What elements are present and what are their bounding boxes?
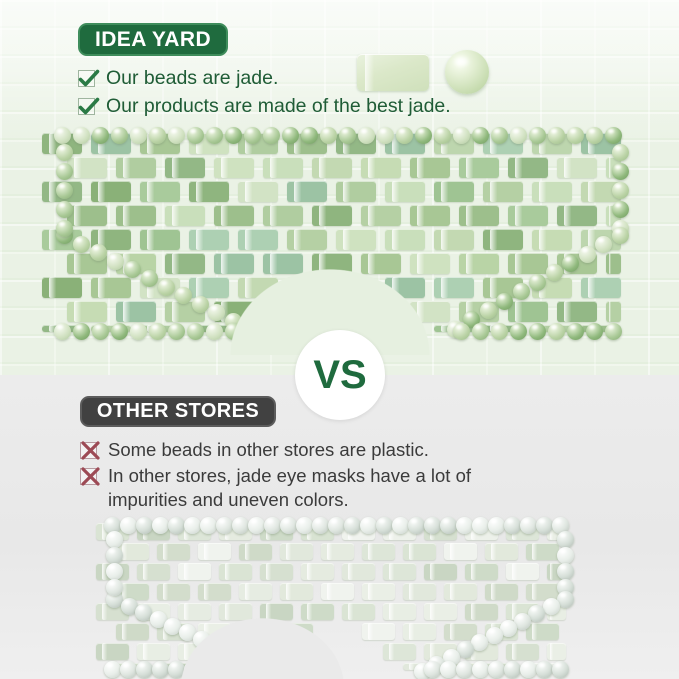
mask-bead bbox=[605, 127, 622, 144]
mask-tile bbox=[287, 181, 327, 202]
tile-highlight bbox=[609, 301, 611, 322]
tile-highlight bbox=[368, 623, 373, 640]
mask-bead bbox=[567, 323, 584, 340]
mask-tile bbox=[526, 623, 559, 640]
mask-bead bbox=[408, 517, 425, 534]
mask-tile bbox=[506, 563, 539, 580]
mask-bead bbox=[612, 201, 629, 218]
mask-bead bbox=[513, 283, 530, 300]
mask-bead bbox=[472, 661, 489, 678]
tile-highlight bbox=[466, 157, 472, 178]
mask-tile bbox=[140, 229, 180, 250]
mask-bead bbox=[377, 127, 394, 144]
tile-highlight bbox=[123, 205, 129, 226]
mask-bead bbox=[120, 517, 137, 534]
mask-bead bbox=[562, 255, 579, 272]
tile-highlight bbox=[430, 603, 435, 620]
mask-bead bbox=[612, 163, 629, 180]
mask-bead bbox=[453, 323, 470, 340]
tile-highlight bbox=[348, 563, 353, 580]
tile-highlight bbox=[74, 253, 80, 274]
tile-highlight bbox=[172, 157, 178, 178]
tile-highlight bbox=[515, 253, 521, 274]
mask-bead bbox=[264, 517, 281, 534]
mask-bead bbox=[141, 270, 158, 287]
mask-bead bbox=[557, 547, 574, 564]
mask-tile bbox=[361, 157, 401, 178]
mask-bead bbox=[158, 279, 175, 296]
mask-bead bbox=[152, 517, 169, 534]
mask-bead bbox=[358, 127, 375, 144]
tile-highlight bbox=[588, 181, 594, 202]
mask-tile bbox=[444, 543, 477, 560]
mask-bead bbox=[339, 127, 356, 144]
comparison-image: IDEA YARD OTHER STORES Our beads are jad… bbox=[0, 0, 679, 679]
mask-tile bbox=[459, 253, 499, 274]
mask-bead bbox=[104, 661, 121, 678]
mask-tile bbox=[403, 543, 436, 560]
mask-tile bbox=[361, 205, 401, 226]
tile-highlight bbox=[491, 543, 496, 560]
mask-tile bbox=[165, 157, 205, 178]
tile-highlight bbox=[74, 157, 80, 178]
mask-tile bbox=[342, 563, 375, 580]
list-item: Some beads in other stores are plastic. bbox=[80, 438, 550, 462]
mask-bead bbox=[107, 253, 124, 270]
mask-tile bbox=[165, 253, 205, 274]
mask-bead bbox=[344, 517, 361, 534]
mask-tile bbox=[42, 277, 82, 298]
tile-highlight bbox=[245, 543, 250, 560]
mask-bead bbox=[152, 661, 169, 678]
tile-highlight bbox=[466, 205, 472, 226]
mask-bead bbox=[263, 127, 280, 144]
mask-bead bbox=[536, 517, 553, 534]
mask-bead bbox=[504, 661, 521, 678]
mask-bead bbox=[200, 517, 217, 534]
tile-highlight bbox=[441, 229, 447, 250]
mask-bead bbox=[491, 323, 508, 340]
tile-highlight bbox=[564, 205, 570, 226]
tile-highlight bbox=[343, 181, 349, 202]
mask-bead bbox=[396, 127, 413, 144]
tile-highlight bbox=[515, 301, 521, 322]
mask-tile bbox=[116, 301, 156, 322]
tile-highlight bbox=[196, 277, 202, 298]
mask-bead bbox=[453, 127, 470, 144]
mask-bead bbox=[612, 182, 629, 199]
mask-bead bbox=[244, 127, 261, 144]
tile-highlight bbox=[245, 181, 251, 202]
idea-yard-badge: IDEA YARD bbox=[78, 23, 228, 56]
mask-tile bbox=[214, 205, 254, 226]
mask-bead bbox=[54, 323, 71, 340]
tile-highlight bbox=[389, 643, 394, 660]
mask-tile bbox=[424, 563, 457, 580]
mask-bead bbox=[612, 227, 629, 244]
mask-bead bbox=[206, 127, 223, 144]
mask-bead bbox=[296, 517, 313, 534]
mask-tile bbox=[383, 603, 416, 620]
mask-tile bbox=[321, 543, 354, 560]
mask-bead bbox=[579, 246, 596, 263]
idea-yard-feature-list: Our beads are jade. Our products are mad… bbox=[78, 66, 598, 122]
mask-tile bbox=[459, 205, 499, 226]
mask-tile bbox=[214, 157, 254, 178]
tile-highlight bbox=[98, 181, 104, 202]
mask-bead bbox=[187, 323, 204, 340]
tile-highlight bbox=[588, 277, 594, 298]
mask-bead bbox=[586, 323, 603, 340]
mask-bead bbox=[301, 127, 318, 144]
mask-bead bbox=[56, 163, 73, 180]
mask-tile bbox=[410, 157, 450, 178]
mask-bead bbox=[376, 517, 393, 534]
mask-tile bbox=[508, 205, 548, 226]
mask-bead bbox=[491, 127, 508, 144]
mask-tile bbox=[165, 205, 205, 226]
mask-bead bbox=[56, 220, 73, 237]
mask-bead bbox=[612, 144, 629, 161]
mask-bead bbox=[557, 563, 574, 580]
tile-highlight bbox=[270, 205, 276, 226]
tile-highlight bbox=[319, 205, 325, 226]
mask-tile bbox=[362, 583, 395, 600]
mask-tile bbox=[557, 157, 597, 178]
tile-highlight bbox=[389, 563, 394, 580]
mask-bead bbox=[552, 661, 569, 678]
tile-highlight bbox=[515, 205, 521, 226]
tile-highlight bbox=[409, 543, 414, 560]
mask-bead bbox=[529, 274, 546, 291]
tile-highlight bbox=[532, 623, 537, 640]
mask-bead bbox=[73, 236, 90, 253]
mask-bead bbox=[456, 661, 473, 678]
mask-tile bbox=[140, 181, 180, 202]
tile-highlight bbox=[221, 157, 227, 178]
vs-badge: VS bbox=[295, 330, 385, 420]
tile-highlight bbox=[512, 563, 517, 580]
check-icon bbox=[78, 70, 97, 89]
mask-bead bbox=[130, 127, 147, 144]
tile-highlight bbox=[270, 157, 276, 178]
mask-bead bbox=[605, 323, 622, 340]
mask-bead bbox=[106, 579, 123, 596]
tile-highlight bbox=[368, 583, 373, 600]
mask-bead bbox=[206, 323, 223, 340]
tile-highlight bbox=[294, 181, 300, 202]
tile-highlight bbox=[471, 603, 476, 620]
mask-bead bbox=[510, 323, 527, 340]
tile-highlight bbox=[550, 563, 553, 580]
mask-bead bbox=[106, 547, 123, 564]
tile-highlight bbox=[515, 157, 521, 178]
other-stores-badge: OTHER STORES bbox=[80, 396, 276, 427]
mask-tile bbox=[459, 157, 499, 178]
mask-tile bbox=[312, 157, 352, 178]
tile-highlight bbox=[172, 253, 178, 274]
mask-bead bbox=[168, 323, 185, 340]
mask-bead bbox=[232, 517, 249, 534]
mask-tile bbox=[238, 181, 278, 202]
cross-icon bbox=[80, 468, 99, 487]
other-stores-badge-label: OTHER STORES bbox=[97, 400, 259, 423]
mask-bead bbox=[92, 127, 109, 144]
tile-highlight bbox=[532, 583, 537, 600]
other-stores-drawback-list: Some beads in other stores are plastic. … bbox=[80, 438, 550, 514]
tile-highlight bbox=[196, 181, 202, 202]
tile-highlight bbox=[98, 277, 104, 298]
tile-highlight bbox=[74, 205, 80, 226]
vs-label: VS bbox=[313, 353, 366, 398]
mask-tile bbox=[189, 229, 229, 250]
mask-tile bbox=[219, 563, 252, 580]
tile-highlight bbox=[143, 643, 148, 660]
mask-tile bbox=[465, 563, 498, 580]
mask-tile bbox=[483, 181, 523, 202]
mask-bead bbox=[208, 304, 225, 321]
tile-highlight bbox=[163, 543, 168, 560]
tile-highlight bbox=[225, 563, 230, 580]
tile-highlight bbox=[409, 583, 414, 600]
tile-highlight bbox=[490, 181, 496, 202]
mask-bead bbox=[595, 236, 612, 253]
mask-bead bbox=[130, 323, 147, 340]
tile-highlight bbox=[409, 623, 414, 640]
idea-yard-badge-label: IDEA YARD bbox=[95, 28, 211, 52]
tile-highlight bbox=[163, 583, 168, 600]
tile-highlight bbox=[49, 181, 55, 202]
tile-highlight bbox=[441, 181, 447, 202]
mask-tile bbox=[532, 229, 572, 250]
mask-bead bbox=[120, 661, 137, 678]
tile-highlight bbox=[450, 543, 455, 560]
mask-bead bbox=[557, 531, 574, 548]
tile-highlight bbox=[490, 277, 496, 298]
tile-highlight bbox=[143, 563, 148, 580]
mask-tile bbox=[137, 563, 170, 580]
mask-bead bbox=[92, 323, 109, 340]
tile-highlight bbox=[196, 229, 202, 250]
mask-tile bbox=[485, 543, 518, 560]
mask-bead bbox=[54, 127, 71, 144]
mask-tile bbox=[532, 181, 572, 202]
tile-highlight bbox=[123, 157, 129, 178]
mask-tile bbox=[557, 205, 597, 226]
mask-bead bbox=[496, 293, 513, 310]
mask-tile bbox=[198, 543, 231, 560]
mask-bead bbox=[567, 127, 584, 144]
mask-bead bbox=[488, 661, 505, 678]
mask-tile bbox=[434, 229, 474, 250]
mask-tile bbox=[362, 543, 395, 560]
tile-highlight bbox=[417, 205, 423, 226]
mask-bead bbox=[168, 517, 185, 534]
mask-tile bbox=[116, 623, 149, 640]
tile-highlight bbox=[184, 563, 189, 580]
nose-notch-bottom bbox=[180, 598, 345, 679]
mask-tile bbox=[385, 181, 425, 202]
tile-highlight bbox=[102, 643, 107, 660]
tile-highlight bbox=[550, 643, 553, 660]
mask-tile bbox=[189, 277, 229, 298]
mask-bead bbox=[548, 127, 565, 144]
mask-tile bbox=[557, 301, 597, 322]
mask-bead bbox=[472, 517, 489, 534]
mask-bead bbox=[111, 127, 128, 144]
check-icon bbox=[78, 98, 97, 117]
mask-bead bbox=[73, 323, 90, 340]
mask-bead bbox=[546, 264, 563, 281]
mask-bead bbox=[312, 517, 329, 534]
mask-bead bbox=[280, 517, 297, 534]
tile-highlight bbox=[266, 563, 271, 580]
list-item-text: In other stores, jade eye masks have a l… bbox=[108, 464, 550, 512]
mask-tile bbox=[312, 205, 352, 226]
tile-highlight bbox=[123, 301, 129, 322]
tile-highlight bbox=[532, 543, 537, 560]
tile-highlight bbox=[204, 543, 209, 560]
mask-tile bbox=[137, 643, 170, 660]
mask-tile bbox=[362, 623, 395, 640]
tile-highlight bbox=[147, 181, 153, 202]
mask-tile bbox=[526, 543, 559, 560]
mask-tile bbox=[116, 205, 156, 226]
mask-bead bbox=[456, 517, 473, 534]
mask-bead bbox=[111, 323, 128, 340]
tile-highlight bbox=[147, 229, 153, 250]
mask-bead bbox=[248, 517, 265, 534]
mask-bead bbox=[328, 517, 345, 534]
mask-tile bbox=[606, 301, 621, 322]
tile-highlight bbox=[172, 301, 178, 322]
mask-tile bbox=[465, 603, 498, 620]
mask-bead bbox=[56, 144, 73, 161]
tile-highlight bbox=[491, 583, 496, 600]
mask-tile bbox=[91, 277, 131, 298]
mask-tile bbox=[96, 643, 129, 660]
mask-tile bbox=[67, 205, 107, 226]
mask-tile bbox=[434, 277, 474, 298]
mask-bead bbox=[192, 296, 209, 313]
mask-bead bbox=[392, 517, 409, 534]
mask-bead bbox=[175, 287, 192, 304]
mask-bead bbox=[510, 127, 527, 144]
mask-bead bbox=[520, 517, 537, 534]
tile-highlight bbox=[450, 623, 455, 640]
mask-bead bbox=[106, 563, 123, 580]
mask-tile bbox=[444, 583, 477, 600]
mask-bead bbox=[529, 323, 546, 340]
mask-bead bbox=[149, 127, 166, 144]
tile-highlight bbox=[368, 543, 373, 560]
tile-highlight bbox=[221, 205, 227, 226]
mask-tile bbox=[91, 181, 131, 202]
tile-highlight bbox=[368, 205, 374, 226]
tile-highlight bbox=[539, 181, 545, 202]
mask-tile bbox=[508, 157, 548, 178]
tile-highlight bbox=[490, 229, 496, 250]
mask-bead bbox=[472, 127, 489, 144]
mask-tile bbox=[263, 157, 303, 178]
list-item: Our beads are jade. bbox=[78, 66, 598, 91]
mask-bead bbox=[56, 182, 73, 199]
mask-bead bbox=[184, 517, 201, 534]
mask-bead bbox=[282, 127, 299, 144]
tile-highlight bbox=[609, 157, 611, 178]
tile-highlight bbox=[466, 253, 472, 274]
tile-highlight bbox=[319, 157, 325, 178]
mask-tile bbox=[116, 157, 156, 178]
mask-tile bbox=[157, 543, 190, 560]
tile-highlight bbox=[392, 181, 398, 202]
mask-bead bbox=[504, 517, 521, 534]
mask-tile bbox=[178, 563, 211, 580]
tile-highlight bbox=[609, 253, 611, 274]
mask-tile bbox=[508, 253, 548, 274]
tile-highlight bbox=[417, 157, 423, 178]
mask-bead bbox=[90, 244, 107, 261]
mask-tile bbox=[483, 229, 523, 250]
mask-tile bbox=[403, 623, 436, 640]
tile-highlight bbox=[122, 623, 127, 640]
tile-highlight bbox=[471, 563, 476, 580]
list-item: Our products are made of the best jade. bbox=[78, 94, 598, 119]
mask-tile bbox=[263, 205, 303, 226]
mask-bead bbox=[187, 127, 204, 144]
mask-bead bbox=[434, 127, 451, 144]
mask-bead bbox=[440, 661, 457, 678]
mask-bead bbox=[168, 127, 185, 144]
mask-bead bbox=[543, 598, 560, 615]
mask-tile bbox=[383, 643, 416, 660]
tile-highlight bbox=[368, 157, 374, 178]
tile-highlight bbox=[609, 205, 611, 226]
mask-bead bbox=[106, 531, 123, 548]
list-item-text: Our beads are jade. bbox=[106, 66, 278, 91]
mask-bead bbox=[56, 201, 73, 218]
mask-bead bbox=[415, 127, 432, 144]
mask-tile bbox=[547, 643, 566, 660]
mask-bead bbox=[73, 127, 90, 144]
mask-tile bbox=[434, 181, 474, 202]
mask-tile bbox=[508, 301, 548, 322]
mask-bead bbox=[320, 127, 337, 144]
mask-bead bbox=[548, 323, 565, 340]
mask-tile bbox=[485, 583, 518, 600]
tile-highlight bbox=[564, 301, 570, 322]
mask-tile bbox=[342, 603, 375, 620]
mask-tile bbox=[424, 603, 457, 620]
mask-bead bbox=[440, 517, 457, 534]
mask-tile bbox=[260, 563, 293, 580]
mask-bead bbox=[586, 127, 603, 144]
mask-bead bbox=[424, 661, 441, 678]
mask-bead bbox=[536, 661, 553, 678]
tile-highlight bbox=[102, 603, 107, 620]
mask-bead bbox=[225, 127, 242, 144]
mask-bead bbox=[472, 323, 489, 340]
tile-highlight bbox=[49, 229, 55, 250]
tile-highlight bbox=[441, 277, 447, 298]
mask-bead bbox=[480, 302, 497, 319]
tile-highlight bbox=[539, 229, 545, 250]
mask-tile bbox=[239, 543, 272, 560]
mask-bead bbox=[520, 661, 537, 678]
tile-highlight bbox=[327, 543, 332, 560]
mask-tile bbox=[67, 157, 107, 178]
tile-highlight bbox=[172, 205, 178, 226]
